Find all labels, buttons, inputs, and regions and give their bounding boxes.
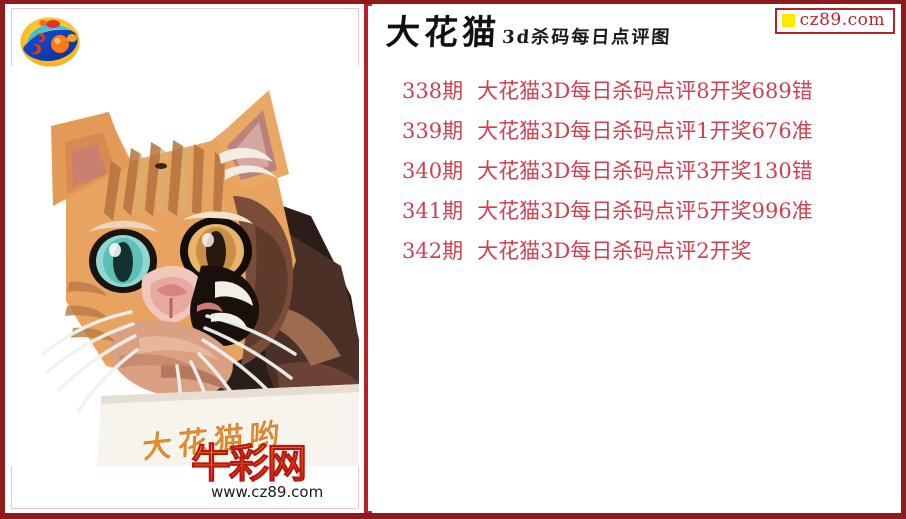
poster-frame: 大花猫哟 牛彩网 www.cz89.com	[0, 0, 906, 519]
bottom-watermark: 牛彩网 www.cz89.com	[189, 437, 359, 503]
record-row: 338期大花猫3D每日杀码点评8开奖689错	[402, 72, 887, 112]
image-panel-inner: 大花猫哟 牛彩网 www.cz89.com	[11, 8, 359, 509]
records-panel: 大花猫 3d杀码每日点评图 338期大花猫3D每日杀码点评8开奖689错 339…	[372, 4, 901, 513]
record-issue: 339期	[402, 119, 463, 143]
3d-lottery-logo-icon	[19, 14, 81, 70]
page-title-sub: 3d杀码每日点评图	[501, 29, 672, 50]
record-row: 339期大花猫3D每日杀码点评1开奖676准	[402, 112, 887, 152]
record-body: 大花猫3D每日杀码点评5开奖996准	[477, 199, 813, 223]
page-title: 大花猫 3d杀码每日点评图	[386, 16, 671, 50]
record-row: 340期大花猫3D每日杀码点评3开奖130错	[402, 152, 887, 192]
record-issue: 340期	[402, 159, 463, 183]
record-issue: 341期	[402, 199, 463, 223]
watermark-badge-text: cz89.com	[800, 12, 885, 29]
record-body: 大花猫3D每日杀码点评8开奖689错	[477, 79, 813, 103]
record-issue: 338期	[402, 79, 463, 103]
record-row: 342期大花猫3D每日杀码点评2开奖	[402, 232, 887, 272]
record-body: 大花猫3D每日杀码点评3开奖130错	[477, 159, 813, 183]
record-body: 大花猫3D每日杀码点评1开奖676准	[477, 119, 813, 143]
record-body: 大花猫3D每日杀码点评2开奖	[477, 239, 752, 263]
image-panel: 大花猫哟 牛彩网 www.cz89.com	[5, 4, 368, 513]
record-issue: 342期	[402, 239, 463, 263]
yellow-square-icon	[782, 14, 795, 27]
watermark-badge: cz89.com	[775, 8, 895, 34]
bottom-watermark-url: www.cz89.com	[211, 483, 323, 501]
page-title-main: 大花猫	[385, 16, 501, 50]
bottom-watermark-brand: 牛彩网	[191, 440, 305, 487]
records-list: 338期大花猫3D每日杀码点评8开奖689错 339期大花猫3D每日杀码点评1开…	[402, 72, 887, 272]
record-row: 341期大花猫3D每日杀码点评5开奖996准	[402, 192, 887, 232]
